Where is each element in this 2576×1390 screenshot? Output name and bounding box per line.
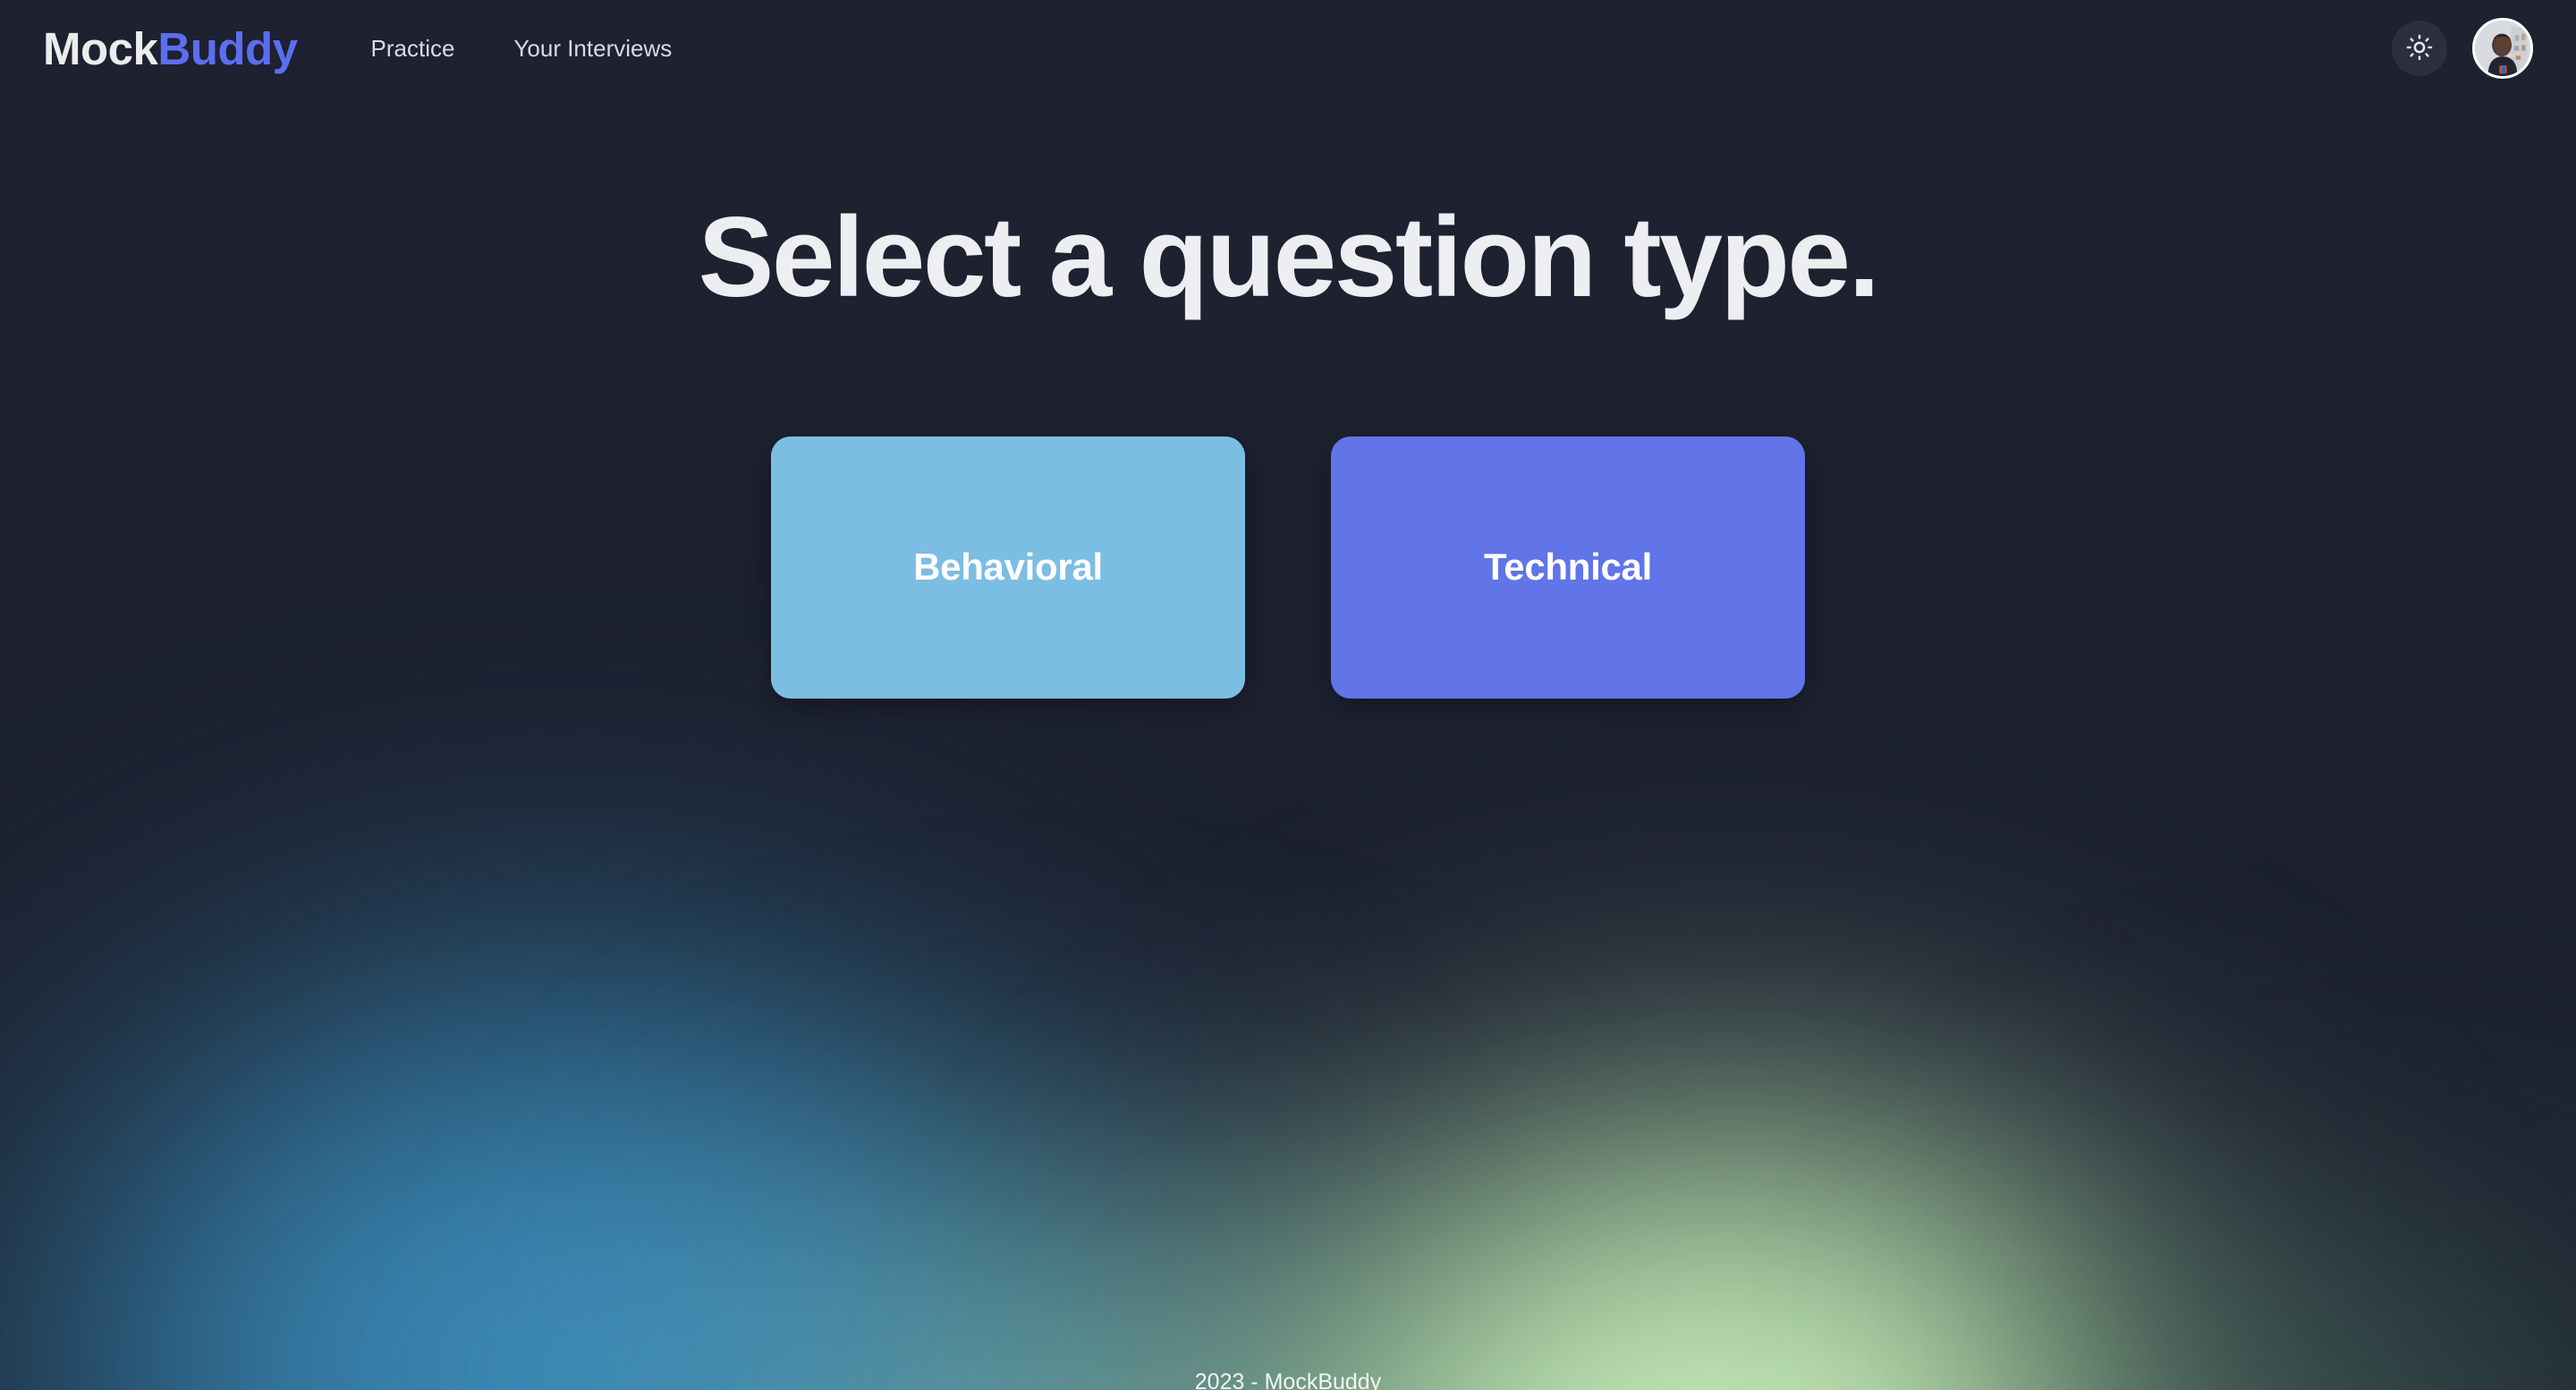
nav-item-practice[interactable]: Practice xyxy=(371,37,455,60)
brand-logo-part-one: Mock xyxy=(43,23,157,74)
theme-toggle-button[interactable] xyxy=(2392,21,2447,76)
question-type-card-behavioral[interactable]: Behavioral xyxy=(771,436,1245,699)
background-blob-blue xyxy=(0,787,1324,1390)
site-header: MockBuddy Practice Your Interviews xyxy=(0,0,2576,97)
main-navigation: Practice Your Interviews xyxy=(371,37,673,60)
question-type-options: Behavioral Technical xyxy=(0,436,2576,699)
header-actions xyxy=(2392,18,2533,79)
brand-logo-part-two: Buddy xyxy=(157,23,297,74)
background-blob-teal xyxy=(572,1055,1556,1390)
background-blob-dark-right xyxy=(1950,1091,2576,1390)
background-blob-mint xyxy=(1055,966,2397,1390)
main-content: Select a question type. Behavioral Techn… xyxy=(0,195,2576,699)
sun-icon xyxy=(2406,34,2433,64)
site-footer: 2023 - MockBuddy xyxy=(0,1369,2576,1390)
question-type-card-technical[interactable]: Technical xyxy=(1331,436,1805,699)
page-title: Select a question type. xyxy=(0,195,2576,320)
user-avatar-photo-icon xyxy=(2475,21,2530,76)
footer-copyright-text: 2023 - MockBuddy xyxy=(1195,1369,1381,1390)
nav-item-your-interviews[interactable]: Your Interviews xyxy=(513,37,672,60)
brand-logo[interactable]: MockBuddy xyxy=(43,26,298,72)
avatar[interactable] xyxy=(2472,18,2533,79)
